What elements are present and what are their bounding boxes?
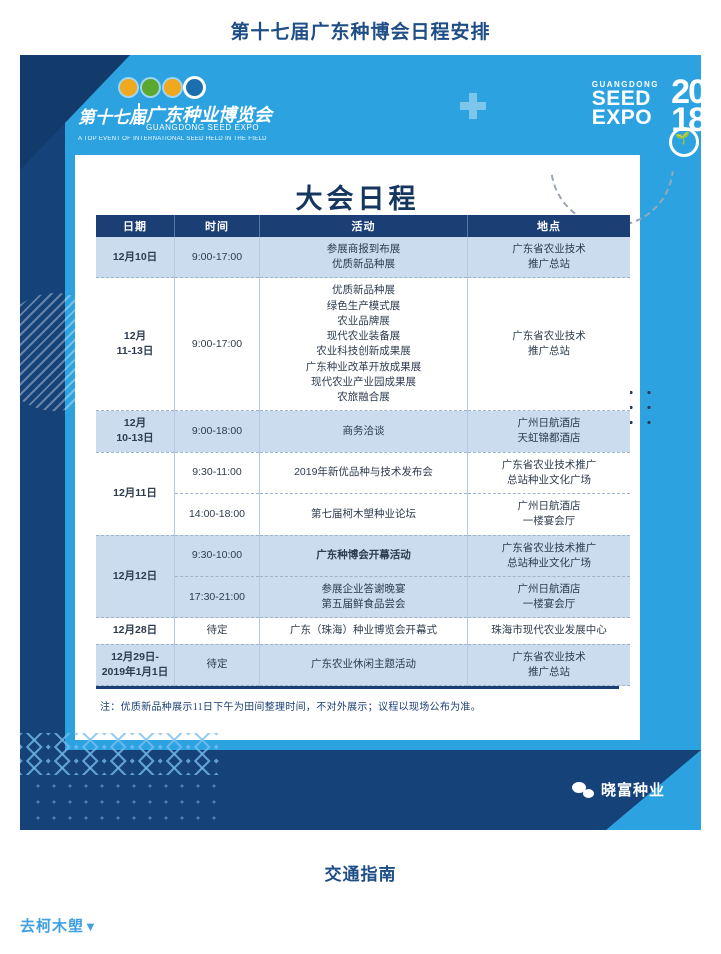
cell-venue: 广东省农业技术推广总站 (468, 237, 631, 278)
cell-line: 广东省农业技术 (471, 650, 627, 665)
cell-line: 广东省农业技术 (471, 329, 627, 344)
logo-right-line2: EXPO (592, 108, 659, 127)
cell-venue: 广东省农业技术推广总站 (468, 644, 631, 685)
cell-line: 12月10日 (99, 250, 171, 265)
cell-activity: 参展商报到布展优质新品种展 (260, 237, 468, 278)
cell-activity: 2019年新优品种与技术发布会 (260, 452, 468, 493)
cell-line: 12月28日 (99, 623, 171, 638)
cell-line: 12月11日 (99, 486, 171, 501)
table-row: 17:30-21:00参展企业答谢晚宴第五届鲜食品尝会广州日航酒店一楼宴会厅 (96, 576, 630, 617)
cell-date: 12月12日 (96, 535, 175, 618)
cell-line: 2019年1月1日 (99, 665, 171, 680)
schedule-card: 大会日程 日期 时间 活动 地点 12月10日9:00-17:00参展商报到布展… (75, 155, 640, 740)
cell-line: 现代农业产业园成果展 (263, 375, 464, 390)
cell-venue: 广东省农业技术推广总站 (468, 278, 631, 411)
cell-line: 农旅融合展 (263, 390, 464, 405)
logo-edition-label: 第十七届 (78, 103, 146, 128)
cell-venue: 广州日航酒店一楼宴会厅 (468, 494, 631, 535)
cell-line: 待定 (178, 623, 256, 638)
cell-venue: 广东省农业技术推广总站种业文化广场 (468, 535, 631, 576)
cell-line: 2019年新优品种与技术发布会 (263, 465, 464, 480)
chevron-down-icon: ▼ (84, 919, 98, 934)
cell-venue: 广州日航酒店一楼宴会厅 (468, 576, 631, 617)
cell-date: 12月28日 (96, 618, 175, 644)
cell-line: 广东种业改革开放成果展 (263, 360, 464, 375)
bottom-dot-pattern (30, 778, 220, 826)
seedling-icon (669, 127, 699, 157)
cell-line: 现代农业装备展 (263, 329, 464, 344)
cell-line: 9:30-10:00 (178, 548, 256, 563)
logo-name-en: GUANGDONG SEED EXPO (146, 123, 259, 132)
schedule-table: 日期 时间 活动 地点 12月10日9:00-17:00参展商报到布展优质新品种… (96, 215, 630, 686)
cell-line: 一楼宴会厅 (471, 514, 627, 529)
cell-line: 9:00-17:00 (178, 250, 256, 265)
cell-date: 12月11-13日 (96, 278, 175, 411)
cell-time: 17:30-21:00 (175, 576, 260, 617)
cell-activity: 优质新品种展绿色生产模式展农业品牌展现代农业装备展农业科技创新成果展广东种业改革… (260, 278, 468, 411)
cell-activity: 广东（珠海）种业博览会开幕式 (260, 618, 468, 644)
cell-line: 总站种业文化广场 (471, 473, 627, 488)
seed-expo-logo-left: 第十七届 广东种业博览会 GUANGDONG SEED EXPO A TOP E… (78, 79, 293, 151)
cell-date: 12月29日-2019年1月1日 (96, 644, 175, 685)
link-label: 去柯木塱 (20, 918, 84, 935)
section-title-transport: 交通指南 (0, 860, 721, 885)
cell-line: 天虹锦都酒店 (471, 431, 627, 446)
cell-time: 9:30-10:00 (175, 535, 260, 576)
left-navy-strip (20, 55, 65, 830)
seed-expo-logo-right: GUANGDONG SEED EXPO 20 18 (592, 81, 659, 128)
col-header-venue: 地点 (468, 215, 631, 237)
cell-time: 14:00-18:00 (175, 494, 260, 535)
cell-line: 珠海市现代农业发展中心 (471, 623, 627, 638)
cell-line: 广东农业休闲主题活动 (263, 657, 464, 672)
cell-time: 9:30-11:00 (175, 452, 260, 493)
cell-line: 12月 (99, 416, 171, 431)
logo-divider (138, 103, 140, 125)
page-title: 第十七届广东种博会日程安排 (0, 17, 721, 44)
cell-line: 广东种博会开幕活动 (263, 548, 464, 563)
cell-line: 参展商报到布展 (263, 242, 464, 257)
cell-line: 广东（珠海）种业博览会开幕式 (263, 623, 464, 638)
cell-line: 推广总站 (471, 344, 627, 359)
cell-line: 农业科技创新成果展 (263, 344, 464, 359)
col-header-time: 时间 (175, 215, 260, 237)
cell-line: 广州日航酒店 (471, 416, 627, 431)
cell-line: 绿色生产模式展 (263, 299, 464, 314)
cell-date: 12月10日 (96, 237, 175, 278)
cell-line: 11-13日 (99, 344, 171, 359)
cell-line: 推广总站 (471, 257, 627, 272)
zigzag-wave-decoration (20, 733, 220, 775)
cell-line: 12月 (99, 329, 171, 344)
logo-tagline: A TOP EVENT OF INTERNATIONAL SEED HELD I… (78, 136, 267, 142)
cell-activity: 商务洽谈 (260, 411, 468, 452)
cell-line: 第五届鲜食品尝会 (263, 597, 464, 612)
schedule-poster: 第十七届 广东种业博览会 GUANGDONG SEED EXPO A TOP E… (20, 55, 701, 830)
cell-line: 17:30-21:00 (178, 590, 256, 605)
cell-time: 待定 (175, 644, 260, 685)
cell-line: 广东省农业技术推广 (471, 541, 627, 556)
table-row: 12月29日-2019年1月1日待定广东农业休闲主题活动广东省农业技术推广总站 (96, 644, 630, 685)
cell-activity: 广东种博会开幕活动 (260, 535, 468, 576)
cell-line: 第七届柯木塱种业论坛 (263, 507, 464, 522)
wechat-account-badge: 晓富种业 (572, 779, 665, 800)
cell-activity: 广东农业休闲主题活动 (260, 644, 468, 685)
table-bottom-rule (96, 686, 619, 689)
cell-line: 10-13日 (99, 431, 171, 446)
cell-venue: 广东省农业技术推广总站种业文化广场 (468, 452, 631, 493)
cell-line: 优质新品种展 (263, 283, 464, 298)
table-row: 12月10-13日9:00-18:00商务洽谈广州日航酒店天虹锦都酒店 (96, 411, 630, 452)
cell-time: 9:00-17:00 (175, 237, 260, 278)
cell-line: 广州日航酒店 (471, 499, 627, 514)
cell-line: 9:00-17:00 (178, 337, 256, 352)
cell-date: 12月10-13日 (96, 411, 175, 452)
cell-time: 9:00-18:00 (175, 411, 260, 452)
cell-time: 9:00-17:00 (175, 278, 260, 411)
cell-line: 农业品牌展 (263, 314, 464, 329)
col-header-date: 日期 (96, 215, 175, 237)
table-body: 12月10日9:00-17:00参展商报到布展优质新品种展广东省农业技术推广总站… (96, 237, 630, 686)
table-row: 12月12日9:30-10:00广东种博会开幕活动广东省农业技术推广总站种业文化… (96, 535, 630, 576)
seed-dots-icon (120, 79, 203, 96)
table-row: 12月11-13日9:00-17:00优质新品种展绿色生产模式展农业品牌展现代农… (96, 278, 630, 411)
cell-line: 14:00-18:00 (178, 507, 256, 522)
cell-line: 一楼宴会厅 (471, 597, 627, 612)
cell-line: 12月12日 (99, 569, 171, 584)
cell-line: 总站种业文化广场 (471, 556, 627, 571)
col-header-activity: 活动 (260, 215, 468, 237)
table-head: 日期 时间 活动 地点 (96, 215, 630, 237)
table-row: 14:00-18:00第七届柯木塱种业论坛广州日航酒店一楼宴会厅 (96, 494, 630, 535)
cell-line: 9:00-18:00 (178, 424, 256, 439)
cell-line: 优质新品种展 (263, 257, 464, 272)
schedule-note: 注：优质新品种展示11日下午为田间整理时间，不对外展示；议程以现场公布为准。 (100, 698, 615, 713)
table-row: 12月10日9:00-17:00参展商报到布展优质新品种展广东省农业技术推广总站 (96, 237, 630, 278)
cell-date: 12月11日 (96, 452, 175, 535)
cell-line: 参展企业答谢晚宴 (263, 582, 464, 597)
cell-line: 商务洽谈 (263, 424, 464, 439)
link-to-kemulang[interactable]: 去柯木塱▼ (20, 915, 98, 936)
cell-line: 广东省农业技术 (471, 242, 627, 257)
cell-time: 待定 (175, 618, 260, 644)
cell-venue: 珠海市现代农业发展中心 (468, 618, 631, 644)
cell-venue: 广州日航酒店天虹锦都酒店 (468, 411, 631, 452)
cell-line: 推广总站 (471, 665, 627, 680)
cell-line: 广东省农业技术推广 (471, 458, 627, 473)
cell-line: 广州日航酒店 (471, 582, 627, 597)
plus-icon-decoration (460, 93, 486, 119)
cell-line: 9:30-11:00 (178, 465, 256, 480)
cell-line: 12月29日- (99, 650, 171, 665)
table-header-row: 日期 时间 活动 地点 (96, 215, 630, 237)
table-row: 12月28日待定广东（珠海）种业博览会开幕式珠海市现代农业发展中心 (96, 618, 630, 644)
wechat-account-name: 晓富种业 (601, 779, 665, 800)
table-row: 12月11日9:30-11:002019年新优品种与技术发布会广东省农业技术推广… (96, 452, 630, 493)
cell-line: 待定 (178, 657, 256, 672)
cell-activity: 第七届柯木塱种业论坛 (260, 494, 468, 535)
wechat-icon (572, 782, 594, 798)
cell-activity: 参展企业答谢晚宴第五届鲜食品尝会 (260, 576, 468, 617)
